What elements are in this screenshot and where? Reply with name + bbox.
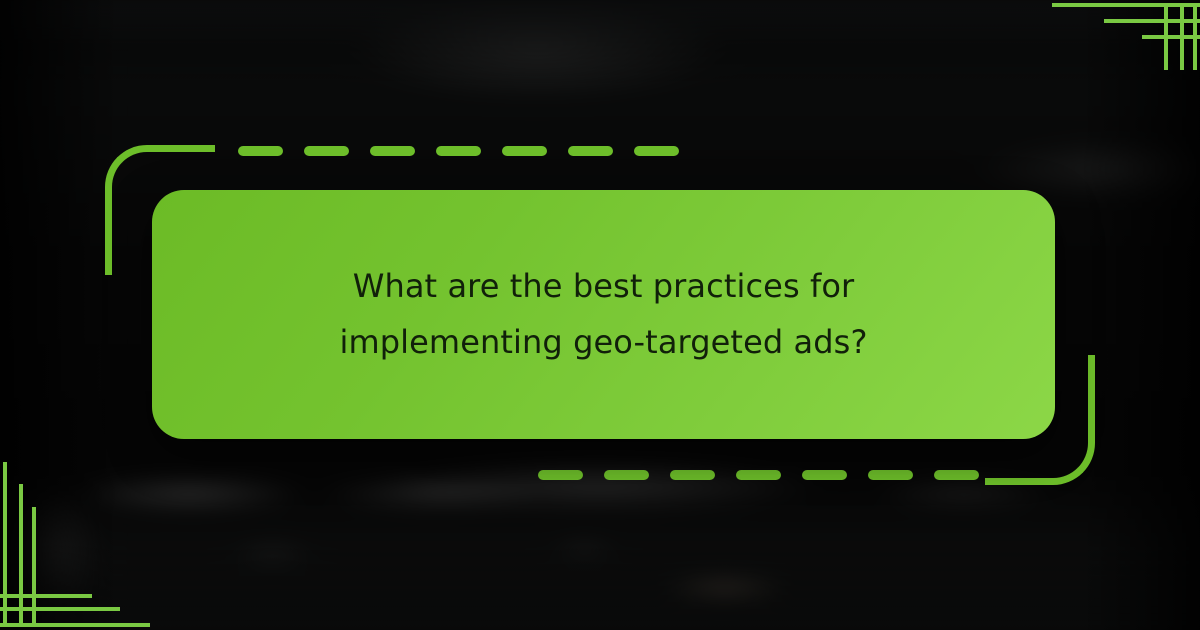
question-text: What are the best practices for implemen… — [304, 259, 904, 369]
dash-segment — [304, 146, 349, 156]
dash-segment — [634, 146, 679, 156]
dash-segment — [604, 470, 649, 480]
bracket-line-v2 — [1180, 3, 1184, 70]
bracket-line-h2 — [0, 607, 120, 611]
bracket-line-h1 — [1052, 3, 1200, 7]
dash-segment — [370, 146, 415, 156]
question-card: What are the best practices for implemen… — [152, 190, 1055, 439]
dash-segment — [538, 470, 583, 480]
bracket-line-v3 — [32, 507, 36, 627]
dash-segment — [802, 470, 847, 480]
bracket-line-h1 — [0, 594, 92, 598]
dashed-line-top — [238, 146, 679, 156]
dash-segment — [436, 146, 481, 156]
bracket-line-v2 — [19, 484, 23, 627]
corner-bracket-top-right — [1020, 0, 1200, 70]
dash-segment — [238, 146, 283, 156]
bracket-line-v1 — [1164, 3, 1168, 70]
dashed-line-bottom — [538, 470, 979, 480]
dash-segment — [502, 146, 547, 156]
bracket-line-h2 — [1104, 19, 1200, 23]
screenshot-canvas: What are the best practices for implemen… — [0, 0, 1200, 630]
dash-segment — [670, 470, 715, 480]
corner-bracket-bottom-left — [0, 440, 180, 630]
dash-segment — [934, 470, 979, 480]
bracket-line-v1 — [3, 462, 7, 627]
dash-segment — [568, 146, 613, 156]
bracket-line-v3 — [1193, 3, 1197, 70]
dash-segment — [868, 470, 913, 480]
dash-segment — [736, 470, 781, 480]
bracket-line-h3 — [1142, 35, 1200, 39]
